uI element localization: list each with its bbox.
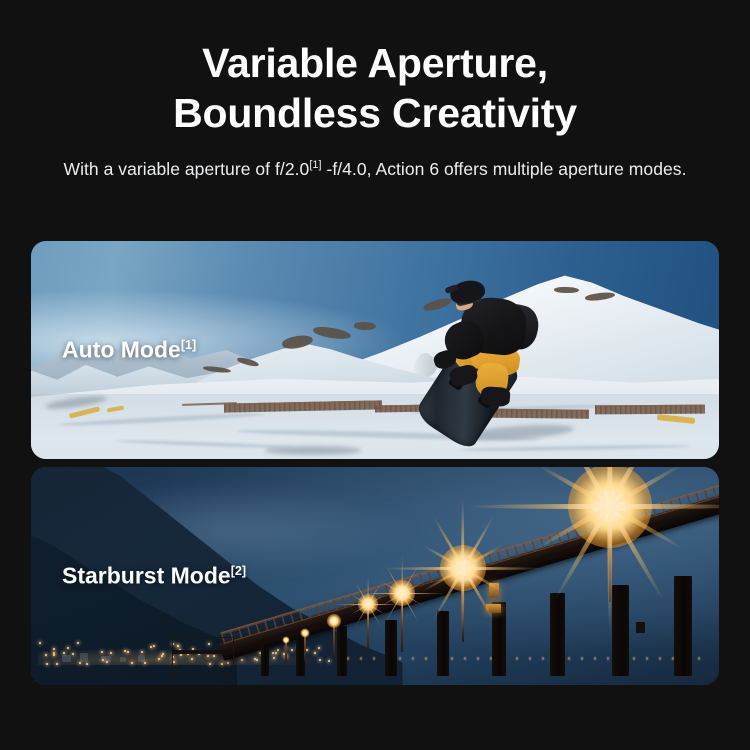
- card-label-auto-mode: Auto Mode[1]: [62, 337, 196, 364]
- pier-piling: [550, 593, 565, 676]
- city-light-dot: [141, 651, 143, 653]
- subtitle-text-2: -f/4.0, Action 6 offers multiple apertur…: [322, 159, 687, 179]
- card-label-footnote: [2]: [231, 564, 246, 578]
- lamp-flare-ray: [607, 467, 612, 632]
- title-line-2: Boundless Creativity: [0, 88, 750, 138]
- city-building: [62, 655, 71, 662]
- card-label-text: Auto Mode: [62, 337, 181, 363]
- mode-card-list: Auto Mode[1]: [31, 241, 719, 685]
- city-light-dot: [72, 653, 74, 655]
- header: Variable Aperture, Boundless Creativity …: [0, 0, 750, 183]
- city-building: [80, 653, 88, 662]
- subtitle-text-1: With a variable aperture of f/2.0: [64, 159, 310, 179]
- promo-page: Variable Aperture, Boundless Creativity …: [0, 0, 750, 750]
- title-line-1: Variable Aperture,: [0, 38, 750, 88]
- city-light-dot: [158, 658, 160, 660]
- city-light-dot: [53, 654, 55, 656]
- city-light-dot: [79, 662, 81, 664]
- pier-piling: [674, 576, 691, 676]
- truss-crossbeam: [172, 650, 234, 654]
- city-light-dot: [63, 652, 65, 654]
- pier-piling: [261, 639, 269, 676]
- city-light-dot: [45, 654, 47, 656]
- city-light-dot: [46, 663, 48, 665]
- city-light-dot: [39, 642, 41, 644]
- pier-lamp: [301, 633, 310, 661]
- page-title: Variable Aperture, Boundless Creativity: [0, 38, 750, 138]
- city-light-dot: [110, 652, 112, 654]
- pier-lamp: [327, 621, 341, 658]
- city-light-dot: [101, 651, 103, 653]
- pier-truss-tower: [172, 637, 234, 674]
- mode-card-starburst[interactable]: Starburst Mode[2]: [31, 467, 719, 685]
- mode-card-auto[interactable]: Auto Mode[1]: [31, 241, 719, 459]
- city-light-dot: [67, 647, 69, 649]
- pier-lamp: [440, 568, 486, 642]
- city-building: [138, 655, 146, 662]
- city-building: [120, 657, 126, 662]
- pier-lamp: [389, 593, 415, 652]
- card-label-starburst-mode: Starburst Mode[2]: [62, 563, 246, 590]
- page-subtitle: With a variable aperture of f/2.0[1] -f/…: [55, 156, 695, 183]
- lamp-flare-ray: [467, 504, 719, 509]
- city-light-dot: [144, 662, 146, 664]
- lamp-core: [327, 614, 341, 628]
- rider-boot: [480, 386, 510, 407]
- city-light-dot: [153, 645, 155, 647]
- city-light-dot: [161, 655, 163, 657]
- city-light-dot: [127, 651, 129, 653]
- pier-lamp: [283, 640, 290, 662]
- city-light-dot: [77, 642, 79, 644]
- lamp-core: [283, 637, 290, 644]
- city-light-dot: [53, 648, 55, 650]
- lamp-core: [301, 628, 310, 637]
- card-label-footnote: [1]: [181, 338, 196, 352]
- city-building: [101, 656, 110, 662]
- city-light-dot: [53, 652, 55, 654]
- city-light-dot: [150, 646, 152, 648]
- pier-lamp: [568, 506, 652, 602]
- subtitle-footnote-1: [1]: [309, 159, 321, 171]
- safety-fence: [595, 405, 705, 415]
- hanging-lamp: [636, 622, 645, 633]
- pier-piling: [492, 602, 506, 676]
- rock-outcrop: [354, 322, 376, 330]
- snowboarder-figure: [413, 278, 557, 448]
- rock-outcrop: [554, 287, 579, 294]
- card-label-text: Starburst Mode: [62, 563, 231, 589]
- pier-lamp: [358, 604, 378, 652]
